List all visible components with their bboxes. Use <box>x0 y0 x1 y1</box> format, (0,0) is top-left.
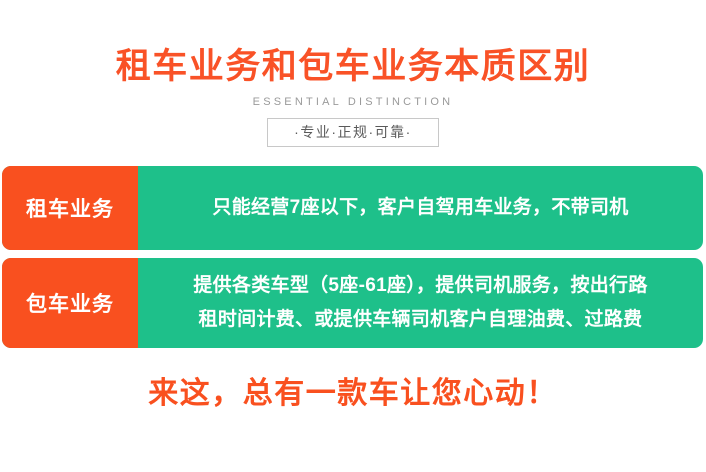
row-text-charter: 提供各类车型（5座-61座），提供司机服务，按出行路 租时间计费、或提供车辆司机… <box>193 269 647 337</box>
comparison-row-charter: 包车业务 提供各类车型（5座-61座），提供司机服务，按出行路 租时间计费、或提… <box>2 258 703 348</box>
row-label-charter: 包车业务 <box>2 258 138 348</box>
footer-tagline: 来这，总有一款车让您心动！ <box>0 373 706 415</box>
row-content-rental: 只能经营7座以下，客户自驾用车业务，不带司机 <box>138 166 703 250</box>
subtitle-english: ESSENTIAL DISTINCTION <box>0 94 706 110</box>
promo-poster: 租车业务和包车业务本质区别 ESSENTIAL DISTINCTION ·专业·… <box>0 0 706 472</box>
row-text-line: 租时间计费、或提供车辆司机客户自理油费、过路费 <box>193 303 647 337</box>
comparison-table: 租车业务 只能经营7座以下，客户自驾用车业务，不带司机 包车业务 提供各类车型（… <box>2 166 703 348</box>
row-text-rental: 只能经营7座以下，客户自驾用车业务，不带司机 <box>212 192 628 224</box>
row-text-line: 只能经营7座以下，客户自驾用车业务，不带司机 <box>212 192 628 224</box>
poster-footer: 来这，总有一款车让您心动！ <box>0 373 706 415</box>
comparison-row-rental: 租车业务 只能经营7座以下，客户自驾用车业务，不带司机 <box>2 166 703 250</box>
poster-header: 租车业务和包车业务本质区别 ESSENTIAL DISTINCTION ·专业·… <box>0 45 706 147</box>
page-title: 租车业务和包车业务本质区别 <box>0 45 706 89</box>
row-content-charter: 提供各类车型（5座-61座），提供司机服务，按出行路 租时间计费、或提供车辆司机… <box>138 258 703 348</box>
row-label-rental: 租车业务 <box>2 166 138 250</box>
quality-badge: ·专业·正规·可靠· <box>267 118 439 147</box>
badge-wrapper: ·专业·正规·可靠· <box>0 118 706 147</box>
row-text-line: 提供各类车型（5座-61座），提供司机服务，按出行路 <box>193 269 647 303</box>
